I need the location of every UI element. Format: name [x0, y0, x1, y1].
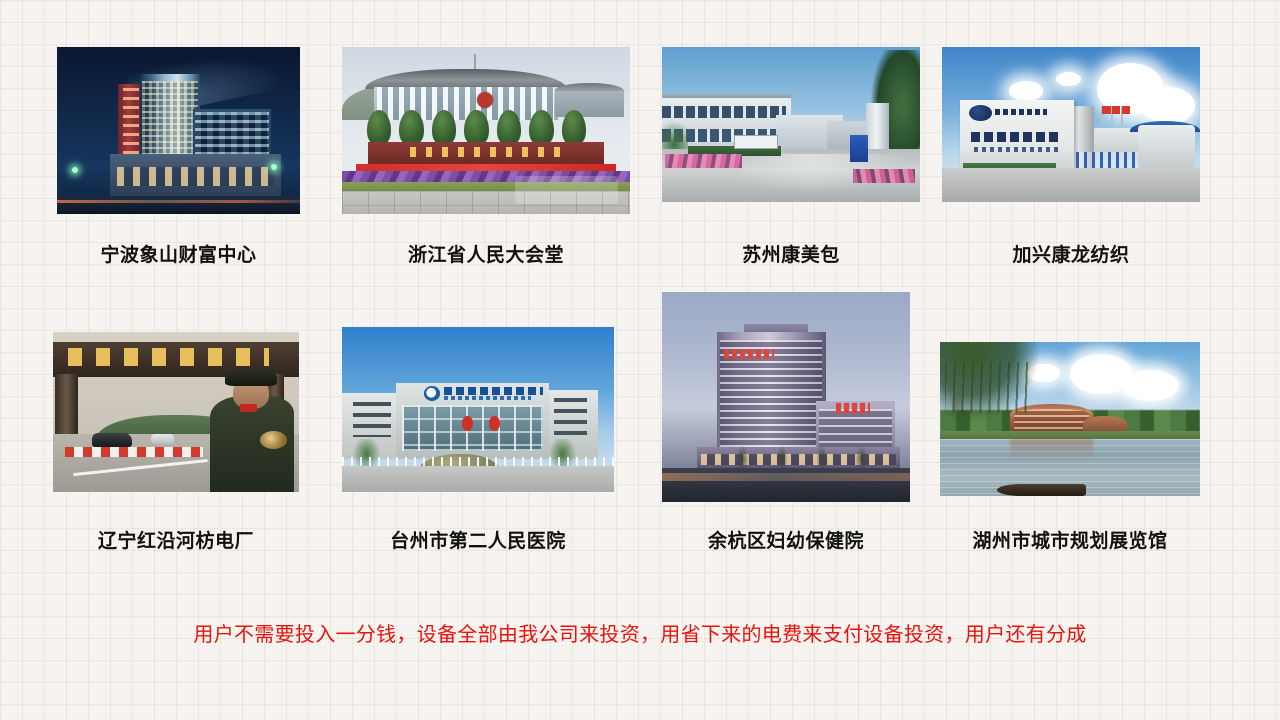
shrub-row [351, 110, 622, 143]
hospital-glass-curtain-wall [402, 405, 543, 451]
podium-retail [110, 154, 280, 199]
hospital-signboard [424, 386, 544, 401]
street [57, 196, 300, 214]
forecourt-pavement [342, 466, 614, 492]
red-lantern-icon [462, 416, 473, 431]
red-lantern-icon [489, 416, 500, 431]
shrub [562, 110, 586, 143]
caption-ningbo-xiangshan-wealth-center: 宁波象山财富中心 [57, 240, 300, 267]
building-reflection [1010, 439, 1093, 464]
photo-ningbo-xiangshan-wealth-center [57, 47, 300, 214]
guard-fur-hat [225, 369, 277, 387]
photo-zhejiang-great-hall [342, 47, 630, 214]
podium-red-sign [836, 403, 871, 414]
parked-car-light [151, 434, 173, 444]
flag [1102, 106, 1111, 114]
pink-flower-bed-left [665, 154, 742, 168]
wooden-boat [997, 484, 1085, 496]
flag-row [1099, 106, 1130, 126]
caption-huzhou-urban-planning-exhibition-hall: 湖州市城市规划展览馆 [940, 526, 1200, 553]
caption-taizhou-second-peoples-hospital: 台州市第二人民医院 [342, 526, 614, 553]
flag [1122, 106, 1131, 114]
photo-taizhou-second-peoples-hospital [342, 327, 614, 492]
photo-huzhou-urban-planning-exhibition-hall [940, 342, 1200, 496]
caption-zhejiang-great-hall: 浙江省人民大会堂 [342, 240, 630, 267]
rooftop-red-sign [724, 349, 774, 360]
photo-jiaxing-kanglong-textile [942, 47, 1200, 202]
blue-signboard [850, 135, 868, 161]
traffic-barrier [65, 447, 203, 457]
caption-suzhou-kangmeibao: 苏州康美包 [662, 240, 920, 267]
foreground-plaza [662, 468, 910, 502]
footer-note: 用户不需要投入一分钱，设备全部由我公司来投资，用省下来的电费来支付设备投资，用户… [0, 618, 1280, 647]
company-name-chinese [971, 132, 1062, 142]
caption-liaoning-hongyanhe-power-plant: 辽宁红沿河枋电厂 [53, 526, 299, 553]
hospital-name-english [444, 396, 531, 400]
cone-denim-logo-icon [969, 105, 992, 121]
cloud [1143, 87, 1195, 124]
hall-roof [365, 69, 567, 89]
pink-flower-bed-right [853, 169, 915, 183]
gatehouse [1138, 125, 1195, 168]
stone-sign [368, 142, 604, 164]
shrub [464, 110, 488, 143]
stone-sign-lettering [410, 147, 561, 157]
willow-tree [940, 342, 1039, 422]
watermark [515, 176, 619, 204]
street-lamp-icon [271, 164, 277, 170]
parked-car-dark [92, 433, 131, 447]
gate-gold-lettering [68, 348, 270, 366]
hospital-name-chinese [444, 387, 543, 395]
cloud [1009, 81, 1043, 101]
photo-yuhang-maternal-child-health-hospital [662, 292, 910, 502]
shrub [367, 110, 391, 143]
flag [1112, 106, 1121, 114]
logo-wordmark [995, 109, 1047, 115]
entrance-apron [942, 168, 1200, 202]
shrub [529, 110, 553, 143]
company-name-wall [960, 100, 1074, 171]
cloud [1056, 72, 1082, 86]
guard-collar-insignia [240, 404, 257, 412]
blue-gate-fence [1076, 152, 1138, 168]
cloud [1122, 370, 1179, 401]
caption-yuhang-maternal-child-health-hospital: 余杭区妇幼保健院 [662, 526, 910, 553]
street-lamp-icon [72, 167, 78, 173]
shrub [497, 110, 521, 143]
photo-liaoning-hongyanhe-power-plant [53, 332, 299, 492]
silo [866, 103, 889, 150]
company-sign [734, 135, 777, 149]
shrub [432, 110, 456, 143]
slide-canvas: 宁波象山财富中心 浙江省人民大会堂 [0, 0, 1280, 720]
guard-arm-badge [260, 431, 287, 449]
company-name-english [974, 147, 1060, 152]
photo-suzhou-kangmeibao [662, 47, 920, 202]
caption-jiaxing-kanglong-textile: 加兴康龙纺织 [942, 240, 1200, 267]
exhibition-hall-annex [1083, 416, 1127, 433]
hospital-logo-icon [424, 386, 441, 401]
shrub [399, 110, 423, 143]
